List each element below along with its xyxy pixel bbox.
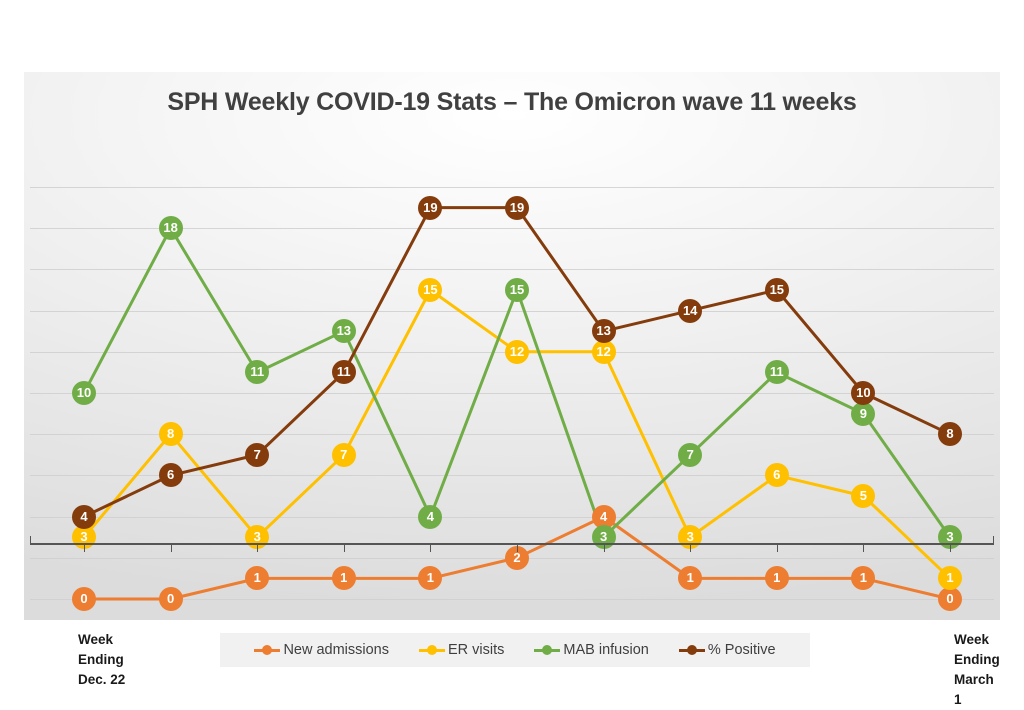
x-axis-tick bbox=[950, 545, 951, 552]
x-axis-tick bbox=[171, 545, 172, 552]
legend-item[interactable]: % Positive bbox=[679, 642, 776, 658]
data-point-label: 12 bbox=[592, 340, 616, 364]
data-point-label: 1 bbox=[765, 566, 789, 590]
data-point-label: 4 bbox=[72, 505, 96, 529]
data-point-label: 8 bbox=[938, 422, 962, 446]
legend-item-label: ER visits bbox=[448, 642, 504, 658]
data-point-label: 0 bbox=[159, 587, 183, 611]
data-point-label: 18 bbox=[159, 216, 183, 240]
chart-title: SPH Weekly COVID-19 Stats – The Omicron … bbox=[24, 88, 1000, 117]
x-axis-end-cap bbox=[993, 536, 994, 545]
data-point-label: 1 bbox=[332, 566, 356, 590]
data-point-label: 10 bbox=[72, 381, 96, 405]
x-axis-tick bbox=[430, 545, 431, 552]
legend-item[interactable]: ER visits bbox=[419, 642, 504, 658]
legend-item-label: New admissions bbox=[283, 642, 389, 658]
x-axis-tick bbox=[344, 545, 345, 552]
series-line bbox=[84, 228, 950, 537]
axis-label-line: Ending bbox=[954, 650, 1000, 670]
axis-label-line: Dec. 22 bbox=[78, 670, 125, 690]
legend-marker-icon bbox=[679, 644, 705, 656]
data-point-label: 1 bbox=[678, 566, 702, 590]
x-axis-tick bbox=[863, 545, 864, 552]
series-line bbox=[84, 290, 950, 578]
legend-marker-icon bbox=[254, 644, 280, 656]
x-axis-end-cap bbox=[30, 536, 31, 545]
legend-marker-icon bbox=[419, 644, 445, 656]
data-point-label: 0 bbox=[72, 587, 96, 611]
data-point-label: 1 bbox=[938, 566, 962, 590]
x-axis-label-end: WeekEndingMarch 1 bbox=[954, 630, 1000, 710]
data-point-label: 7 bbox=[678, 443, 702, 467]
legend-item-label: MAB infusion bbox=[563, 642, 648, 658]
data-point-label: 19 bbox=[505, 196, 529, 220]
legend-marker-icon bbox=[534, 644, 560, 656]
data-point-label: 7 bbox=[332, 443, 356, 467]
x-axis-tick bbox=[604, 545, 605, 552]
legend-item-label: % Positive bbox=[708, 642, 776, 658]
data-point-label: 13 bbox=[332, 319, 356, 343]
data-point-label: 1 bbox=[418, 566, 442, 590]
data-point-label: 0 bbox=[938, 587, 962, 611]
x-axis-tick bbox=[690, 545, 691, 552]
data-point-label: 9 bbox=[851, 402, 875, 426]
data-point-label: 14 bbox=[678, 299, 702, 323]
plot-area: 0011124111038371512123651101811134153711… bbox=[30, 128, 994, 543]
data-point-label: 15 bbox=[505, 278, 529, 302]
legend-item[interactable]: MAB infusion bbox=[534, 642, 648, 658]
data-point-label: 6 bbox=[159, 463, 183, 487]
data-point-label: 8 bbox=[159, 422, 183, 446]
x-axis-line bbox=[30, 543, 994, 545]
data-point-label: 13 bbox=[592, 319, 616, 343]
chart-container: SPH Weekly COVID-19 Stats – The Omicron … bbox=[24, 72, 1000, 620]
x-axis-tick bbox=[777, 545, 778, 552]
axis-label-line: Ending bbox=[78, 650, 125, 670]
data-point-label: 1 bbox=[851, 566, 875, 590]
data-point-label: 7 bbox=[245, 443, 269, 467]
chart-legend: New admissionsER visitsMAB infusion% Pos… bbox=[220, 633, 810, 667]
x-axis-label-start: WeekEndingDec. 22 bbox=[78, 630, 125, 690]
x-axis-tick bbox=[517, 545, 518, 552]
legend-item[interactable]: New admissions bbox=[254, 642, 389, 658]
x-axis-tick bbox=[84, 545, 85, 552]
data-point-label: 15 bbox=[765, 278, 789, 302]
axis-label-line: Week bbox=[954, 630, 1000, 650]
x-axis-tick bbox=[257, 545, 258, 552]
data-point-label: 12 bbox=[505, 340, 529, 364]
axis-label-line: March 1 bbox=[954, 670, 1000, 710]
data-point-label: 1 bbox=[245, 566, 269, 590]
axis-label-line: Week bbox=[78, 630, 125, 650]
data-point-label: 19 bbox=[418, 196, 442, 220]
data-point-label: 4 bbox=[418, 505, 442, 529]
